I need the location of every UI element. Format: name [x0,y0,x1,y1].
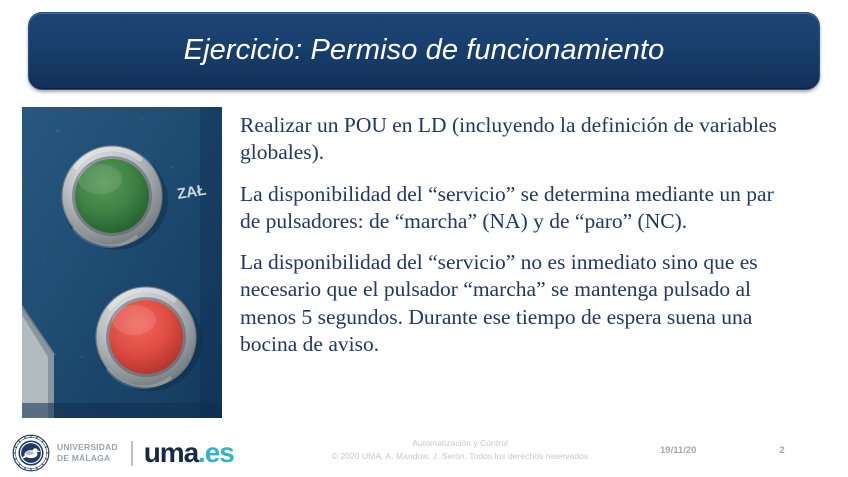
body-paragraph-2: La disponibilidad del “servicio” se dete… [240,181,792,236]
university-name: UNIVERSIDAD DE MÁLAGA [57,442,118,463]
pushbutton-panel-photo: ZAŁ [22,107,222,418]
slide-body-content: Realizar un POU en LD (incluyendo la def… [240,112,792,358]
presentation-slide: Ejercicio: Permiso de funcionamiento [0,0,848,477]
body-paragraph-1: Realizar un POU en LD (incluyendo la def… [240,112,792,167]
uma-branding: UNIVERSIDAD DE MÁLAGA uma.es [12,432,234,474]
slide-footer: UNIVERSIDAD DE MÁLAGA uma.es Automatizac… [0,430,848,477]
course-name: Automatización y Control [270,437,650,450]
slide-page-number: 2 [772,445,792,456]
uma-seal-icon [12,434,50,472]
copyright-line: © 2020 UMA, A. Mandow, J. Serón. Todos l… [270,450,650,463]
slide-title-banner: Ejercicio: Permiso de funcionamiento [28,12,820,90]
copyright-credit: Automatización y Control © 2020 UMA, A. … [270,437,650,463]
university-name-line2: DE MÁLAGA [57,453,118,464]
page-title: Ejercicio: Permiso de funcionamiento [160,35,689,67]
pushbutton-panel-illustration: ZAŁ [22,107,222,418]
wordmark-es: .es [198,437,234,468]
logo-divider [131,441,133,466]
slide-date: 19/11/20 [660,445,696,456]
wordmark-uma: uma [144,437,198,468]
umaes-wordmark: uma.es [144,439,234,467]
body-paragraph-3: La disponibilidad del “servicio” no es i… [240,249,792,358]
university-name-line1: UNIVERSIDAD [57,442,118,453]
